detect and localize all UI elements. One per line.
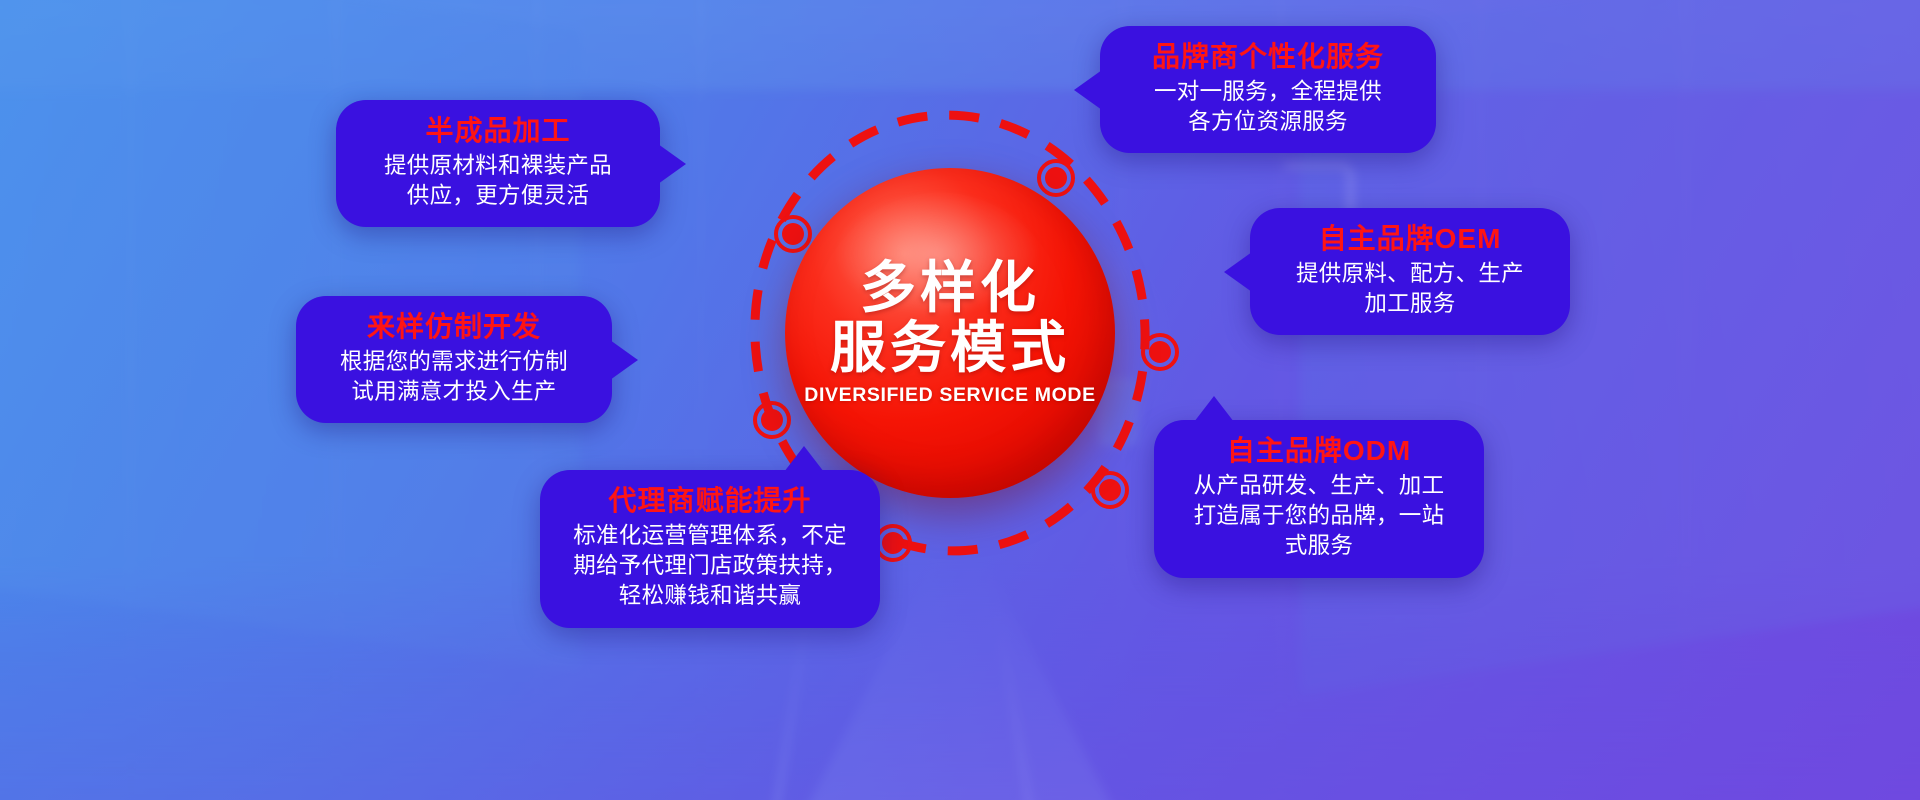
infographic-canvas: 多样化 服务模式 DIVERSIFIED SERVICE MODE 半成品加工 … [0, 0, 1920, 800]
sphere-title-line1: 多样化 [860, 259, 1040, 317]
callout-brand-personalized-service[interactable]: 品牌商个性化服务 一对一服务，全程提供 各方位资源服务 [1100, 26, 1436, 153]
bubble-tail-icon [1224, 252, 1252, 292]
callout-body-line: 提供原材料和裸装产品 [354, 151, 642, 181]
callout-body-line: 各方位资源服务 [1118, 107, 1418, 137]
callout-body-line: 轻松赚钱和谐共赢 [558, 581, 862, 611]
callout-agent-empowerment[interactable]: 代理商赋能提升 标准化运营管理体系，不定 期给予代理门店政策扶持， 轻松赚钱和谐… [540, 470, 880, 628]
callout-body-line: 期给予代理门店政策扶持， [558, 551, 862, 581]
bubble-tail-icon [784, 446, 824, 472]
callout-body-line: 式服务 [1172, 531, 1466, 561]
bubble-tail-icon [1074, 70, 1102, 110]
callout-title: 自主品牌OEM [1268, 222, 1552, 256]
sphere-subtitle: DIVERSIFIED SERVICE MODE [804, 384, 1095, 407]
callout-body-line: 标准化运营管理体系，不定 [558, 521, 862, 551]
callout-body: 提供原材料和裸装产品 供应，更方便灵活 [354, 151, 642, 211]
callout-body: 标准化运营管理体系，不定 期给予代理门店政策扶持， 轻松赚钱和谐共赢 [558, 521, 862, 611]
central-sphere: 多样化 服务模式 DIVERSIFIED SERVICE MODE [785, 168, 1115, 498]
bubble-tail-icon [610, 340, 638, 380]
callout-body-line: 提供原料、配方、生产 [1268, 259, 1552, 289]
callout-body-line: 根据您的需求进行仿制 [314, 347, 594, 377]
callout-body-line: 打造属于您的品牌，一站 [1172, 501, 1466, 531]
callout-body-line: 试用满意才投入生产 [314, 377, 594, 407]
bubble-tail-icon [1194, 396, 1234, 422]
callout-title: 半成品加工 [354, 114, 642, 148]
callout-own-brand-odm[interactable]: 自主品牌ODM 从产品研发、生产、加工 打造属于您的品牌，一站 式服务 [1154, 420, 1484, 578]
callout-body-line: 供应，更方便灵活 [354, 181, 642, 211]
callout-body: 一对一服务，全程提供 各方位资源服务 [1118, 77, 1418, 137]
sphere-title-line2: 服务模式 [830, 319, 1070, 377]
callout-sample-imitation-development[interactable]: 来样仿制开发 根据您的需求进行仿制 试用满意才投入生产 [296, 296, 612, 423]
callout-own-brand-oem[interactable]: 自主品牌OEM 提供原料、配方、生产 加工服务 [1250, 208, 1570, 335]
callout-title: 来样仿制开发 [314, 310, 594, 344]
callout-body-line: 加工服务 [1268, 289, 1552, 319]
callout-semi-finished-processing[interactable]: 半成品加工 提供原材料和裸装产品 供应，更方便灵活 [336, 100, 660, 227]
callout-body: 根据您的需求进行仿制 试用满意才投入生产 [314, 347, 594, 407]
callout-title: 代理商赋能提升 [558, 484, 862, 518]
callout-title: 品牌商个性化服务 [1118, 40, 1418, 74]
callout-title: 自主品牌ODM [1172, 434, 1466, 468]
callout-body: 提供原料、配方、生产 加工服务 [1268, 259, 1552, 319]
callout-body-line: 从产品研发、生产、加工 [1172, 471, 1466, 501]
bubble-tail-icon [658, 144, 686, 184]
callout-body: 从产品研发、生产、加工 打造属于您的品牌，一站 式服务 [1172, 471, 1466, 561]
callout-body-line: 一对一服务，全程提供 [1118, 77, 1418, 107]
